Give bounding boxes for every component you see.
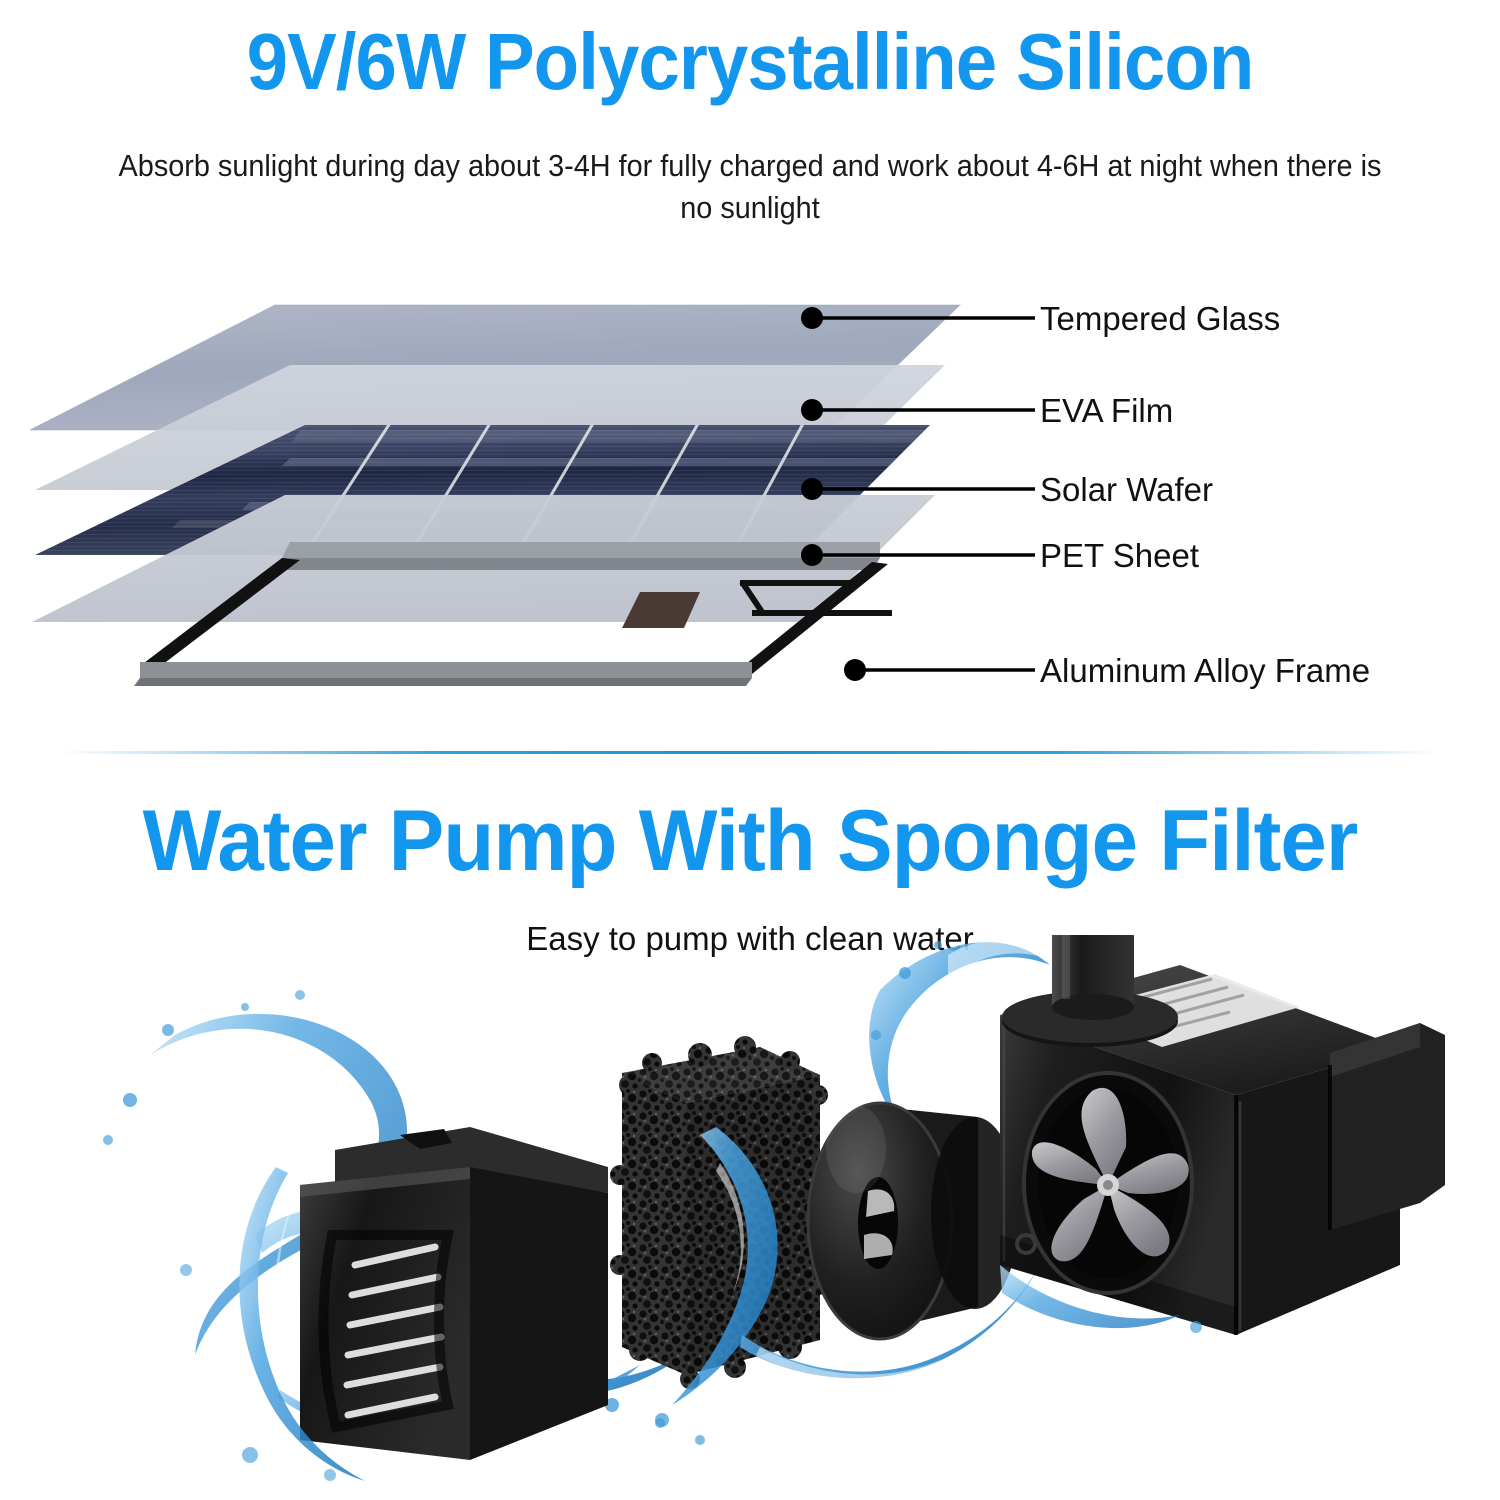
- pump-section-title: Water Pump With Sponge Filter: [23, 798, 1478, 884]
- layer-label-eva-film: EVA Film: [1040, 392, 1173, 430]
- layer-label-solar-wafer: Solar Wafer: [1040, 471, 1213, 509]
- water-pump-section: Water Pump With Sponge Filter Easy to pu…: [0, 760, 1500, 1500]
- layer-label-tempered-glass: Tempered Glass: [1040, 300, 1280, 338]
- solar-section-title: 9V/6W Polycrystalline Silicon: [53, 22, 1448, 102]
- sponge-filter: [610, 1036, 831, 1389]
- pump-exploded-diagram: [0, 935, 1500, 1495]
- impeller-cover-cap: [808, 1103, 1019, 1339]
- section-divider: [60, 751, 1440, 754]
- solar-panel-section: 9V/6W Polycrystalline Silicon Absorb sun…: [0, 0, 1500, 752]
- layer-label-aluminum-alloy-frame: Aluminum Alloy Frame: [1040, 652, 1370, 690]
- infographic-page: 9V/6W Polycrystalline Silicon Absorb sun…: [0, 0, 1500, 1500]
- layer-label-pet-sheet: PET Sheet: [1040, 537, 1199, 575]
- solar-section-subtitle: Absorb sunlight during day about 3-4H fo…: [99, 145, 1401, 229]
- pump-intake-cover: [300, 1127, 608, 1460]
